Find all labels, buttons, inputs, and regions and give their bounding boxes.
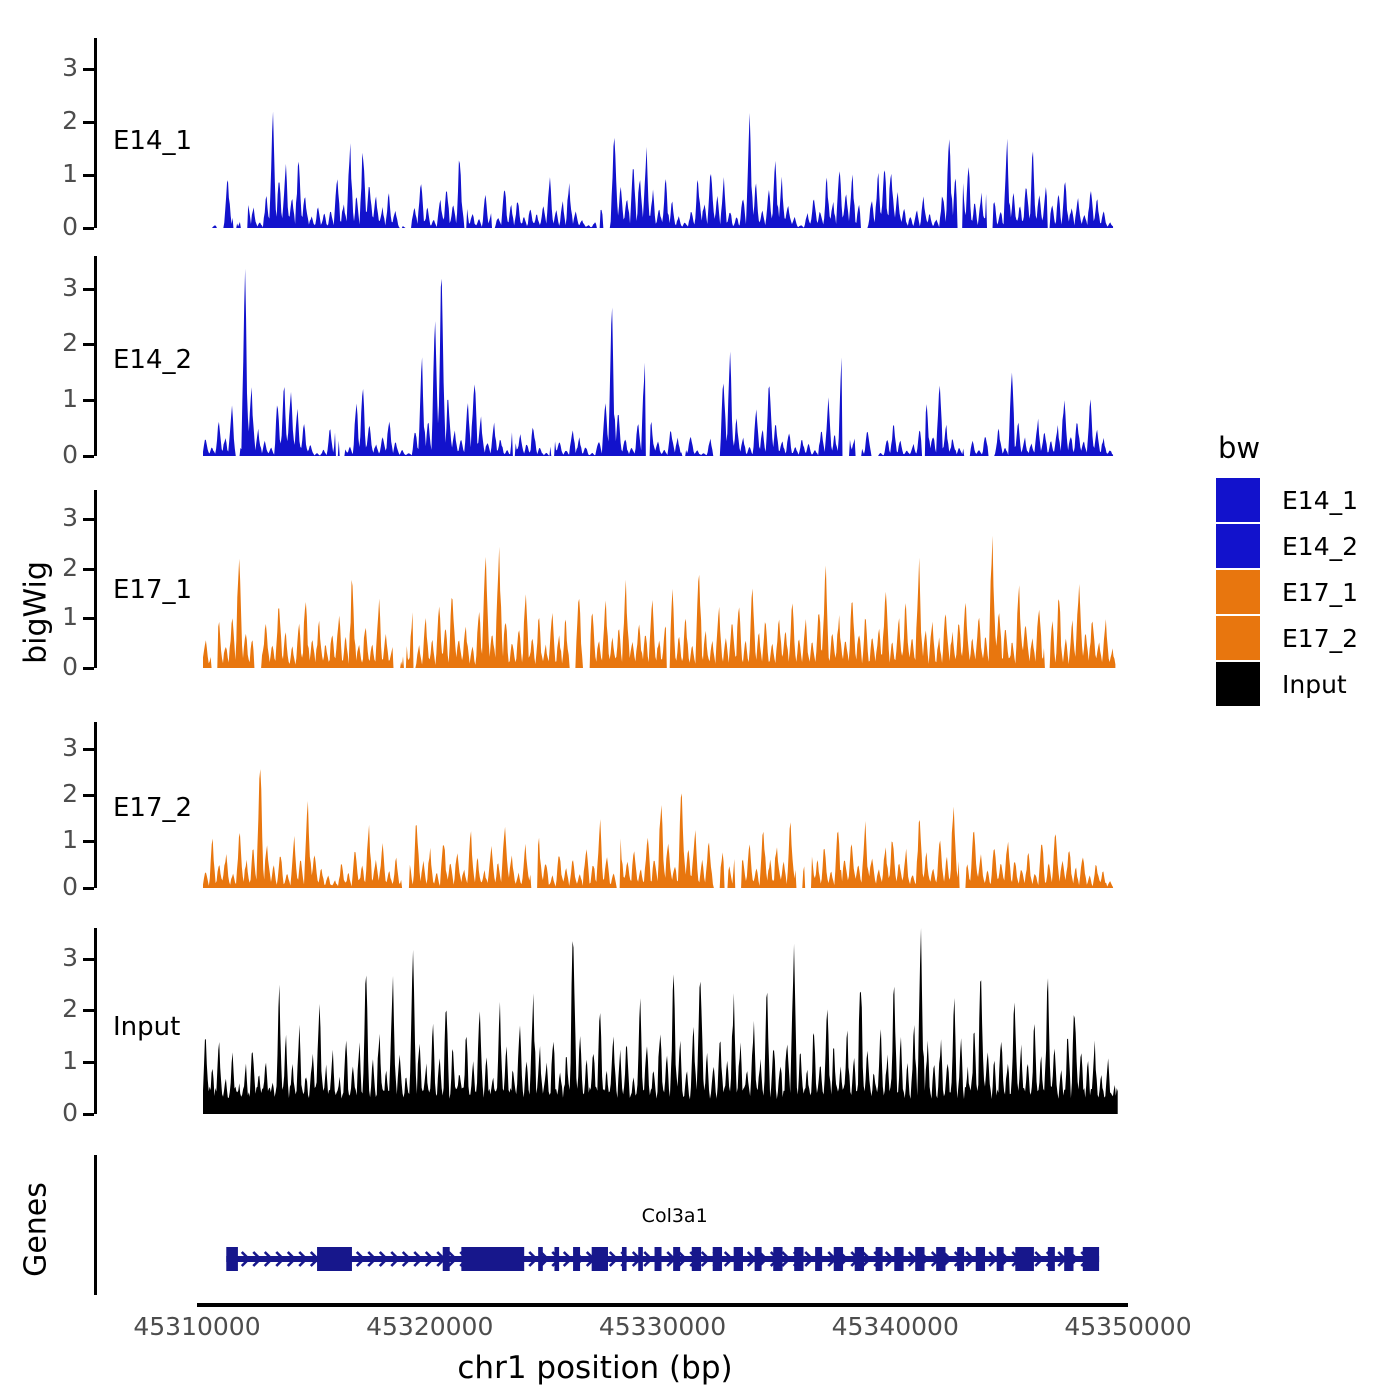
track-canvas-e17_2[interactable] — [100, 722, 1136, 888]
y-tick-input-3: 3 — [83, 958, 94, 961]
track-canvas-e17_1[interactable] — [100, 490, 1136, 668]
x-tick-label-45350000: 45350000 — [1064, 1312, 1191, 1341]
legend-items: E14_1E14_2E17_1E17_2Input — [1216, 477, 1358, 707]
y-tick-label-e17_1-1: 1 — [62, 604, 78, 629]
track-label-e14_1: E14_1 — [113, 126, 192, 156]
y-tick-e17_2-1: 1 — [83, 840, 94, 843]
signal-panel-e17_2: 0123 — [94, 722, 1136, 888]
legend-label-e17_1: E17_1 — [1282, 578, 1358, 607]
y-tick-e14_2-1: 1 — [83, 399, 94, 402]
y-tick-e14_1-1: 1 — [83, 174, 94, 177]
y-tick-e17_1-0: 0 — [83, 667, 94, 670]
y-tick-e17_2-0: 0 — [83, 887, 94, 890]
y-axis-line-e17_2 — [94, 722, 97, 888]
y-tick-e14_1-2: 2 — [83, 121, 94, 124]
signal-panel-input: 0123 — [94, 928, 1136, 1114]
legend-key-e14_2 — [1216, 524, 1260, 568]
y-tick-label-input-0: 0 — [62, 1100, 78, 1125]
track-canvas-input[interactable] — [100, 928, 1136, 1114]
y-tick-label-e17_1-0: 0 — [62, 654, 78, 679]
legend-key-e14_1 — [1216, 478, 1260, 522]
y-tick-e17_1-2: 2 — [83, 568, 94, 571]
legend-item-e14_1[interactable]: E14_1 — [1216, 477, 1358, 523]
track-label-input: Input — [113, 1012, 180, 1042]
legend-key-input — [1216, 662, 1260, 706]
y-tick-input-1: 1 — [83, 1061, 94, 1064]
signal-panel-e14_1: 0123 — [94, 38, 1136, 228]
y-tick-label-e14_2-0: 0 — [62, 442, 78, 467]
y-axis-line-e17_1 — [94, 490, 97, 668]
track-canvas-e14_1[interactable] — [100, 38, 1136, 228]
y-tick-input-0: 0 — [83, 1113, 94, 1116]
legend-label-e17_2: E17_2 — [1282, 624, 1358, 653]
legend-label-input: Input — [1282, 670, 1347, 699]
y-tick-label-e14_1-0: 0 — [62, 214, 78, 239]
legend-item-e17_2[interactable]: E17_2 — [1216, 615, 1358, 661]
y-tick-label-e14_1-3: 3 — [62, 55, 78, 80]
y-tick-e14_2-2: 2 — [83, 343, 94, 346]
y-axis-title-bigwig: bigWig — [19, 513, 54, 713]
y-tick-label-e14_1-1: 1 — [62, 161, 78, 186]
x-tick-label-45310000: 45310000 — [133, 1312, 260, 1341]
x-tick-label-45330000: 45330000 — [599, 1312, 726, 1341]
y-tick-input-2: 2 — [83, 1009, 94, 1012]
track-canvas-e14_2[interactable] — [100, 256, 1136, 456]
y-tick-label-input-2: 2 — [62, 996, 78, 1021]
y-tick-label-e14_2-1: 1 — [62, 386, 78, 411]
y-axis-line-e14_1 — [94, 38, 97, 228]
y-tick-label-input-1: 1 — [62, 1048, 78, 1073]
y-axis-line-e14_2 — [94, 256, 97, 456]
y-tick-e14_2-3: 3 — [83, 288, 94, 291]
legend-label-e14_2: E14_2 — [1282, 532, 1358, 561]
y-tick-e14_1-0: 0 — [83, 227, 94, 230]
y-tick-label-input-3: 3 — [62, 945, 78, 970]
genome-browser-plot: bigWig Genes 01230123012301230123 Col3a1… — [0, 0, 1400, 1400]
track-label-e17_1: E17_1 — [113, 575, 192, 605]
track-label-e14_2: E14_2 — [113, 345, 192, 375]
x-tick-label-45320000: 45320000 — [366, 1312, 493, 1341]
y-axis-line-input — [94, 928, 97, 1114]
y-tick-e14_2-0: 0 — [83, 455, 94, 458]
y-tick-label-e17_2-1: 1 — [62, 827, 78, 852]
legend-key-e17_1 — [1216, 570, 1260, 614]
legend-item-input[interactable]: Input — [1216, 661, 1358, 707]
gene-panel — [94, 1155, 1136, 1295]
legend: bw E14_1E14_2E17_1E17_2Input — [1216, 434, 1358, 707]
legend-item-e17_1[interactable]: E17_1 — [1216, 569, 1358, 615]
x-axis-line — [197, 1303, 1128, 1307]
y-tick-label-e14_2-3: 3 — [62, 275, 78, 300]
gene-panel-axis — [94, 1155, 97, 1295]
signal-panel-e14_2: 0123 — [94, 256, 1136, 456]
gene-label-col3a1: Col3a1 — [642, 1205, 708, 1227]
y-axis-title-genes: Genes — [19, 1150, 54, 1310]
track-label-e17_2: E17_2 — [113, 793, 192, 823]
x-axis-title: chr1 position (bp) — [0, 1350, 1190, 1386]
y-tick-e17_2-2: 2 — [83, 794, 94, 797]
y-tick-label-e14_1-2: 2 — [62, 108, 78, 133]
y-tick-label-e14_2-2: 2 — [62, 330, 78, 355]
y-tick-label-e17_2-3: 3 — [62, 735, 78, 760]
x-tick-label-45340000: 45340000 — [832, 1312, 959, 1341]
y-tick-label-e17_2-2: 2 — [62, 781, 78, 806]
y-tick-label-e17_1-3: 3 — [62, 505, 78, 530]
y-tick-label-e17_1-2: 2 — [62, 555, 78, 580]
legend-title: bw — [1218, 434, 1358, 463]
signal-panel-e17_1: 0123 — [94, 490, 1136, 668]
y-tick-e14_1-3: 3 — [83, 68, 94, 71]
y-tick-e17_1-3: 3 — [83, 518, 94, 521]
y-tick-e17_2-3: 3 — [83, 748, 94, 751]
y-tick-label-e17_2-0: 0 — [62, 874, 78, 899]
legend-key-e17_2 — [1216, 616, 1260, 660]
gene-track-canvas[interactable] — [100, 1155, 1136, 1295]
legend-item-e14_2[interactable]: E14_2 — [1216, 523, 1358, 569]
legend-label-e14_1: E14_1 — [1282, 486, 1358, 515]
y-tick-e17_1-1: 1 — [83, 617, 94, 620]
